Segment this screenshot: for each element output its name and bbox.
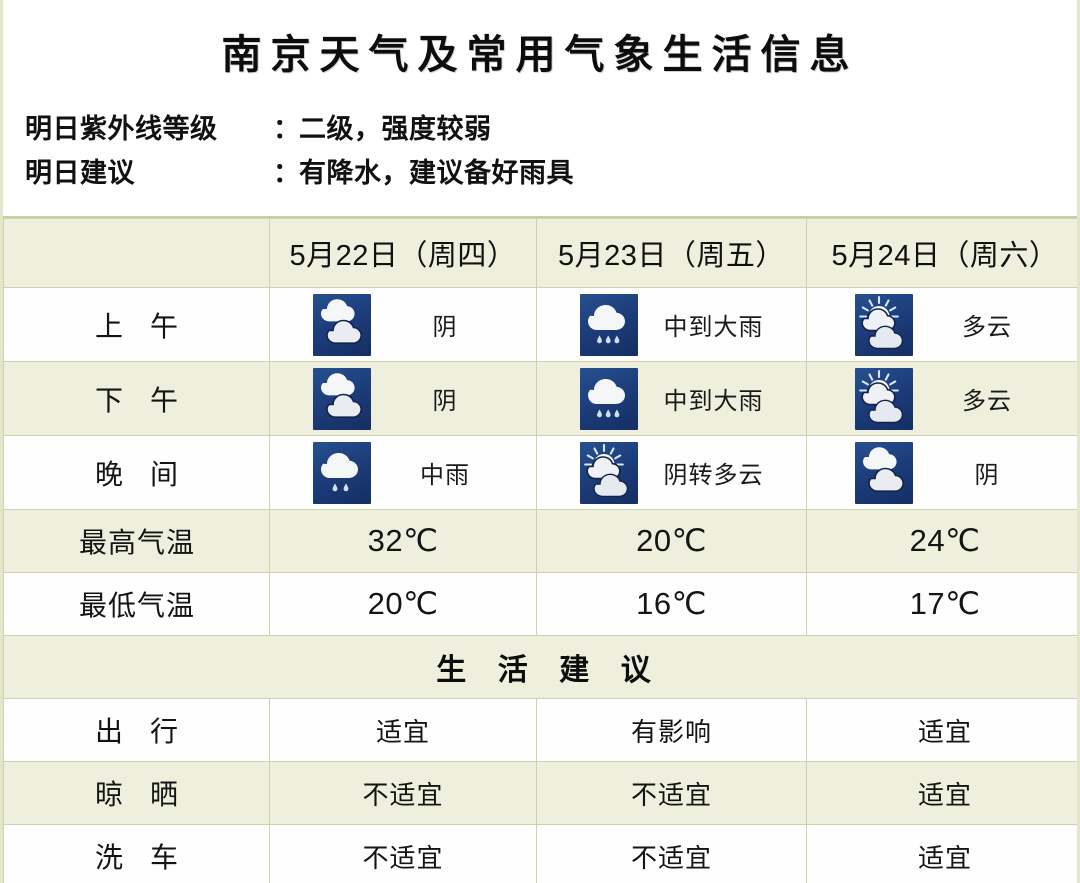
travel-advice-day2: 有影响: [537, 699, 807, 762]
drying-advice-day1: 不适宜: [270, 762, 537, 825]
row-label-carwash: 洗 车: [4, 825, 270, 883]
info-label-uv: 明日紫外线等级: [25, 108, 273, 152]
table-header-row: 5月22日（周四） 5月23日（周五） 5月24日（周六）: [4, 219, 1080, 288]
forecast-text-afternoon-day3: 多云: [939, 381, 1035, 416]
forecast-text-evening-day3: 阴: [939, 455, 1035, 490]
table-row-carwash: 洗 车 不适宜 不适宜 适宜: [4, 825, 1080, 883]
travel-advice-day3: 适宜: [807, 699, 1080, 762]
header-block: 南京天气及常用气象生活信息 明日紫外线等级 ： 二级，强度较弱 明日建议 ： 有…: [3, 0, 1077, 218]
info-row-uv: 明日紫外线等级 ： 二级，强度较弱: [25, 108, 1077, 152]
page-title: 南京天气及常用气象生活信息: [3, 0, 1077, 80]
row-label-low-temp: 最低气温: [4, 573, 270, 636]
low-temp-day2: 16℃: [537, 573, 807, 636]
forecast-cell-morning-day1: 阴: [270, 288, 537, 362]
forecast-cell-evening-day2: 阴转多云: [537, 436, 807, 510]
high-temp-day3: 24℃: [807, 510, 1080, 573]
row-label-evening: 晚 间: [4, 436, 270, 510]
table-corner-cell: [4, 219, 270, 288]
drying-advice-day3: 适宜: [807, 762, 1080, 825]
weather-info-page: 南京天气及常用气象生活信息 明日紫外线等级 ： 二级，强度较弱 明日建议 ： 有…: [0, 0, 1080, 883]
rain-cloud-icon: [580, 294, 638, 356]
carwash-advice-day2: 不适宜: [537, 825, 807, 883]
low-temp-day3: 17℃: [807, 573, 1080, 636]
forecast-cell-afternoon-day1: 阴: [270, 362, 537, 436]
forecast-text-evening-day1: 中雨: [397, 455, 493, 490]
info-value-uv: 二级，强度较弱: [299, 108, 1077, 152]
info-label-suggestion: 明日建议: [25, 152, 273, 196]
row-label-high-temp: 最高气温: [4, 510, 270, 573]
info-colon-suggestion: ：: [273, 152, 299, 196]
high-temp-day1: 32℃: [270, 510, 537, 573]
table-row-low-temp: 最低气温 20℃ 16℃ 17℃: [4, 573, 1080, 636]
overcast-clouds-icon: [855, 442, 913, 504]
rain-cloud-icon: [313, 442, 371, 504]
travel-advice-day1: 适宜: [270, 699, 537, 762]
forecast-text-morning-day1: 阴: [397, 307, 493, 342]
forecast-text-afternoon-day2: 中到大雨: [664, 381, 764, 416]
table-row-high-temp: 最高气温 32℃ 20℃ 24℃: [4, 510, 1080, 573]
carwash-advice-day1: 不适宜: [270, 825, 537, 883]
row-label-morning: 上 午: [4, 288, 270, 362]
forecast-cell-morning-day2: 中到大雨: [537, 288, 807, 362]
forecast-text-afternoon-day1: 阴: [397, 381, 493, 416]
life-advice-banner-row: 生 活 建 议: [4, 636, 1080, 699]
row-label-travel: 出 行: [4, 699, 270, 762]
overcast-clouds-icon: [313, 294, 371, 356]
info-colon-uv: ：: [273, 108, 299, 152]
low-temp-day1: 20℃: [270, 573, 537, 636]
forecast-text-morning-day2: 中到大雨: [664, 307, 764, 342]
sun-behind-cloud-icon: [580, 442, 638, 504]
rain-cloud-icon: [580, 368, 638, 430]
table-row-morning: 上 午 阴: [4, 288, 1080, 362]
sun-behind-cloud-icon: [855, 368, 913, 430]
high-temp-day2: 20℃: [537, 510, 807, 573]
forecast-text-evening-day2: 阴转多云: [664, 455, 764, 490]
table-row-evening: 晚 间 中雨: [4, 436, 1080, 510]
row-label-afternoon: 下 午: [4, 362, 270, 436]
overcast-clouds-icon: [313, 368, 371, 430]
row-label-drying: 晾 晒: [4, 762, 270, 825]
date-header-day2: 5月23日（周五）: [537, 219, 807, 288]
carwash-advice-day3: 适宜: [807, 825, 1080, 883]
forecast-cell-morning-day3: 多云: [807, 288, 1080, 362]
life-advice-banner: 生 活 建 议: [4, 636, 1080, 699]
date-header-day1: 5月22日（周四）: [270, 219, 537, 288]
forecast-cell-afternoon-day3: 多云: [807, 362, 1080, 436]
table-row-travel: 出 行 适宜 有影响 适宜: [4, 699, 1080, 762]
sun-behind-cloud-icon: [855, 294, 913, 356]
weather-table: 5月22日（周四） 5月23日（周五） 5月24日（周六） 上 午: [3, 218, 1080, 883]
info-row-suggestion: 明日建议 ： 有降水，建议备好雨具: [25, 152, 1077, 196]
forecast-text-morning-day3: 多云: [939, 307, 1035, 342]
info-value-suggestion: 有降水，建议备好雨具: [299, 152, 1077, 196]
table-row-drying: 晾 晒 不适宜 不适宜 适宜: [4, 762, 1080, 825]
date-header-day3: 5月24日（周六）: [807, 219, 1080, 288]
table-row-afternoon: 下 午 阴: [4, 362, 1080, 436]
info-list: 明日紫外线等级 ： 二级，强度较弱 明日建议 ： 有降水，建议备好雨具: [3, 108, 1077, 195]
drying-advice-day2: 不适宜: [537, 762, 807, 825]
forecast-cell-evening-day3: 阴: [807, 436, 1080, 510]
forecast-cell-evening-day1: 中雨: [270, 436, 537, 510]
forecast-cell-afternoon-day2: 中到大雨: [537, 362, 807, 436]
